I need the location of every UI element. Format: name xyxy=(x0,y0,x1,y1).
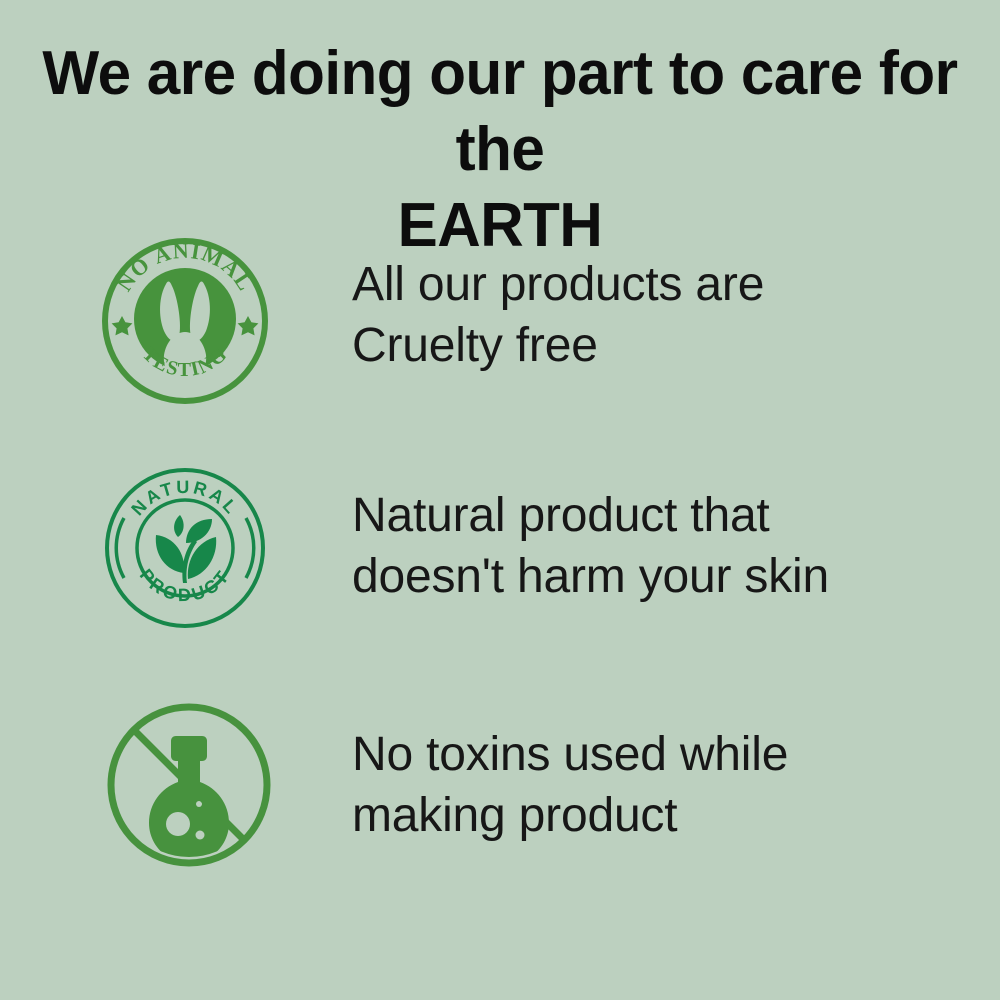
list-item: NATURAL PRODUCT Natural product that doe… xyxy=(0,463,1000,698)
natural-product-badge: NATURAL PRODUCT xyxy=(100,463,270,633)
list-item: No toxins used while making product xyxy=(0,698,1000,933)
feature-list: NO ANIMAL TESTING All our products are C… xyxy=(0,228,1000,933)
no-toxins-badge xyxy=(104,700,274,870)
list-item: NO ANIMAL TESTING All our products are C… xyxy=(0,228,1000,463)
feature-text: No toxins used while making product xyxy=(352,724,952,846)
eco-claims-graphic: We are doing our part to care for the EA… xyxy=(0,0,1000,1000)
no-animal-testing-badge: NO ANIMAL TESTING xyxy=(100,236,270,406)
feature-text: All our products are Cruelty free xyxy=(352,254,952,376)
feature-text: Natural product that doesn't harm your s… xyxy=(352,485,952,607)
